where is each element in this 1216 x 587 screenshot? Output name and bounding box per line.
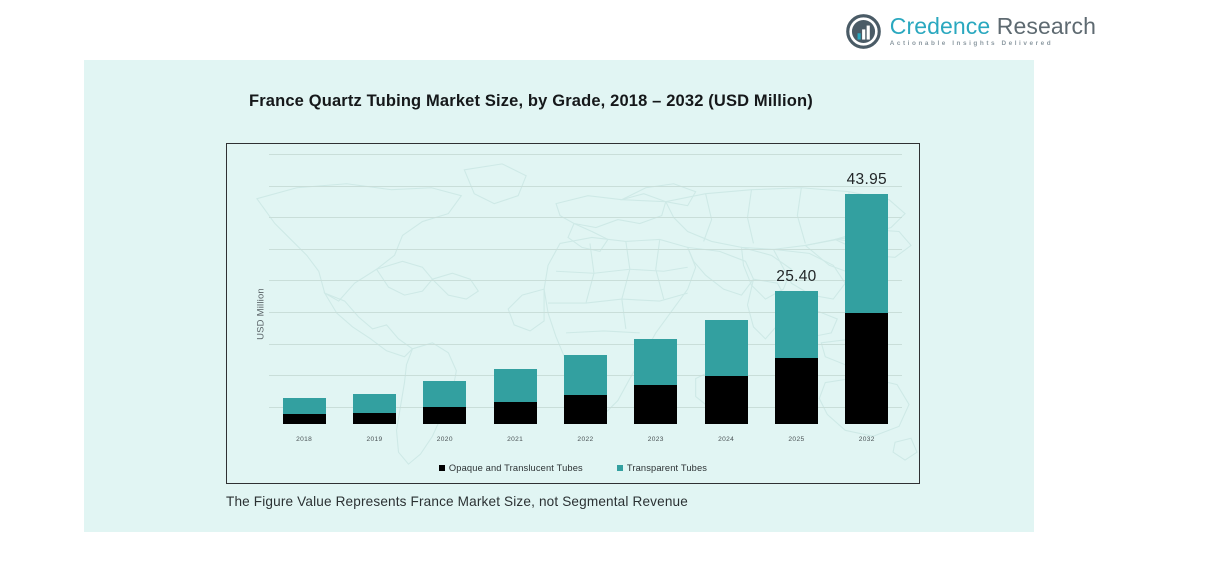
bar-stack[interactable] — [634, 339, 677, 424]
bar-group[interactable] — [480, 154, 550, 424]
x-axis-tick-label: 2023 — [621, 436, 691, 443]
bar-segment-transparent-tubes[interactable] — [423, 381, 466, 407]
bar-segment-transparent-tubes[interactable] — [353, 394, 396, 413]
x-axis-ticks: 201820192020202120222023202420252032 — [269, 436, 902, 443]
bar-group[interactable] — [339, 154, 409, 424]
bar-stack[interactable] — [353, 394, 396, 424]
bar-segment-transparent-tubes[interactable] — [845, 194, 888, 314]
bar-series-container: 25.4043.95 — [269, 154, 902, 424]
bar-segment-opaque-translucent-tubes[interactable] — [423, 407, 466, 424]
bar-group[interactable] — [621, 154, 691, 424]
legend-swatch — [617, 465, 623, 471]
legend-swatch — [439, 465, 445, 471]
bar-segment-opaque-translucent-tubes[interactable] — [564, 395, 607, 424]
chart-title: France Quartz Tubing Market Size, by Gra… — [249, 92, 813, 111]
chart-panel: France Quartz Tubing Market Size, by Gra… — [84, 60, 1034, 532]
x-axis-tick-label: 2032 — [832, 436, 902, 443]
bar-stack[interactable] — [775, 291, 818, 424]
legend-item[interactable]: Opaque and Translucent Tubes — [439, 463, 583, 473]
bar-stack[interactable] — [564, 355, 607, 424]
legend-label: Opaque and Translucent Tubes — [449, 463, 583, 473]
bar-segment-opaque-translucent-tubes[interactable] — [494, 402, 537, 424]
brand-name-primary: Credence — [890, 13, 991, 39]
x-axis-tick-label: 2020 — [410, 436, 480, 443]
brand-name-secondary: Research — [990, 13, 1096, 39]
bar-segment-transparent-tubes[interactable] — [775, 291, 818, 358]
brand-tagline: Actionable Insights Delivered — [890, 41, 1096, 47]
bar-segment-transparent-tubes[interactable] — [705, 320, 748, 377]
bar-group[interactable] — [269, 154, 339, 424]
brand-name: Credence Research — [890, 15, 1096, 38]
plot-area: 25.4043.95 — [269, 154, 902, 424]
bar-value-label: 43.95 — [847, 171, 887, 189]
legend-label: Transparent Tubes — [627, 463, 707, 473]
bar-group[interactable]: 25.40 — [761, 154, 831, 424]
bar-stack[interactable] — [423, 381, 466, 424]
bar-segment-transparent-tubes[interactable] — [634, 339, 677, 386]
bar-group[interactable] — [550, 154, 620, 424]
x-axis-tick-label: 2018 — [269, 436, 339, 443]
chart-legend: Opaque and Translucent TubesTransparent … — [227, 463, 919, 473]
bar-value-label: 25.40 — [776, 268, 816, 286]
x-axis-tick-label: 2025 — [761, 436, 831, 443]
bar-group[interactable] — [691, 154, 761, 424]
bar-stack[interactable] — [845, 194, 888, 424]
x-axis-tick-label: 2024 — [691, 436, 761, 443]
bar-stack[interactable] — [705, 320, 748, 424]
bar-group[interactable]: 43.95 — [832, 154, 902, 424]
x-axis-tick-label: 2022 — [550, 436, 620, 443]
bar-group[interactable] — [410, 154, 480, 424]
bar-segment-opaque-translucent-tubes[interactable] — [845, 313, 888, 424]
x-axis-tick-label: 2021 — [480, 436, 550, 443]
bar-stack[interactable] — [283, 398, 326, 424]
bar-segment-opaque-translucent-tubes[interactable] — [775, 358, 818, 424]
y-axis-title: USD Million — [255, 288, 266, 340]
brand-logo: Credence Research Actionable Insights De… — [846, 14, 1096, 49]
bar-segment-opaque-translucent-tubes[interactable] — [705, 376, 748, 424]
bar-segment-transparent-tubes[interactable] — [283, 398, 326, 414]
bar-stack[interactable] — [494, 369, 537, 424]
bar-segment-opaque-translucent-tubes[interactable] — [634, 385, 677, 424]
brand-text: Credence Research Actionable Insights De… — [890, 15, 1096, 47]
chart-footnote: The Figure Value Represents France Marke… — [226, 494, 688, 509]
x-axis-tick-label: 2019 — [339, 436, 409, 443]
bar-segment-opaque-translucent-tubes[interactable] — [283, 414, 326, 424]
bar-segment-opaque-translucent-tubes[interactable] — [353, 413, 396, 424]
legend-item[interactable]: Transparent Tubes — [617, 463, 707, 473]
plot-frame: USD Million 25.4043.95 20182019202020212… — [226, 143, 920, 484]
bar-segment-transparent-tubes[interactable] — [494, 369, 537, 402]
bar-chart-circle-icon — [846, 14, 881, 49]
bar-segment-transparent-tubes[interactable] — [564, 355, 607, 395]
